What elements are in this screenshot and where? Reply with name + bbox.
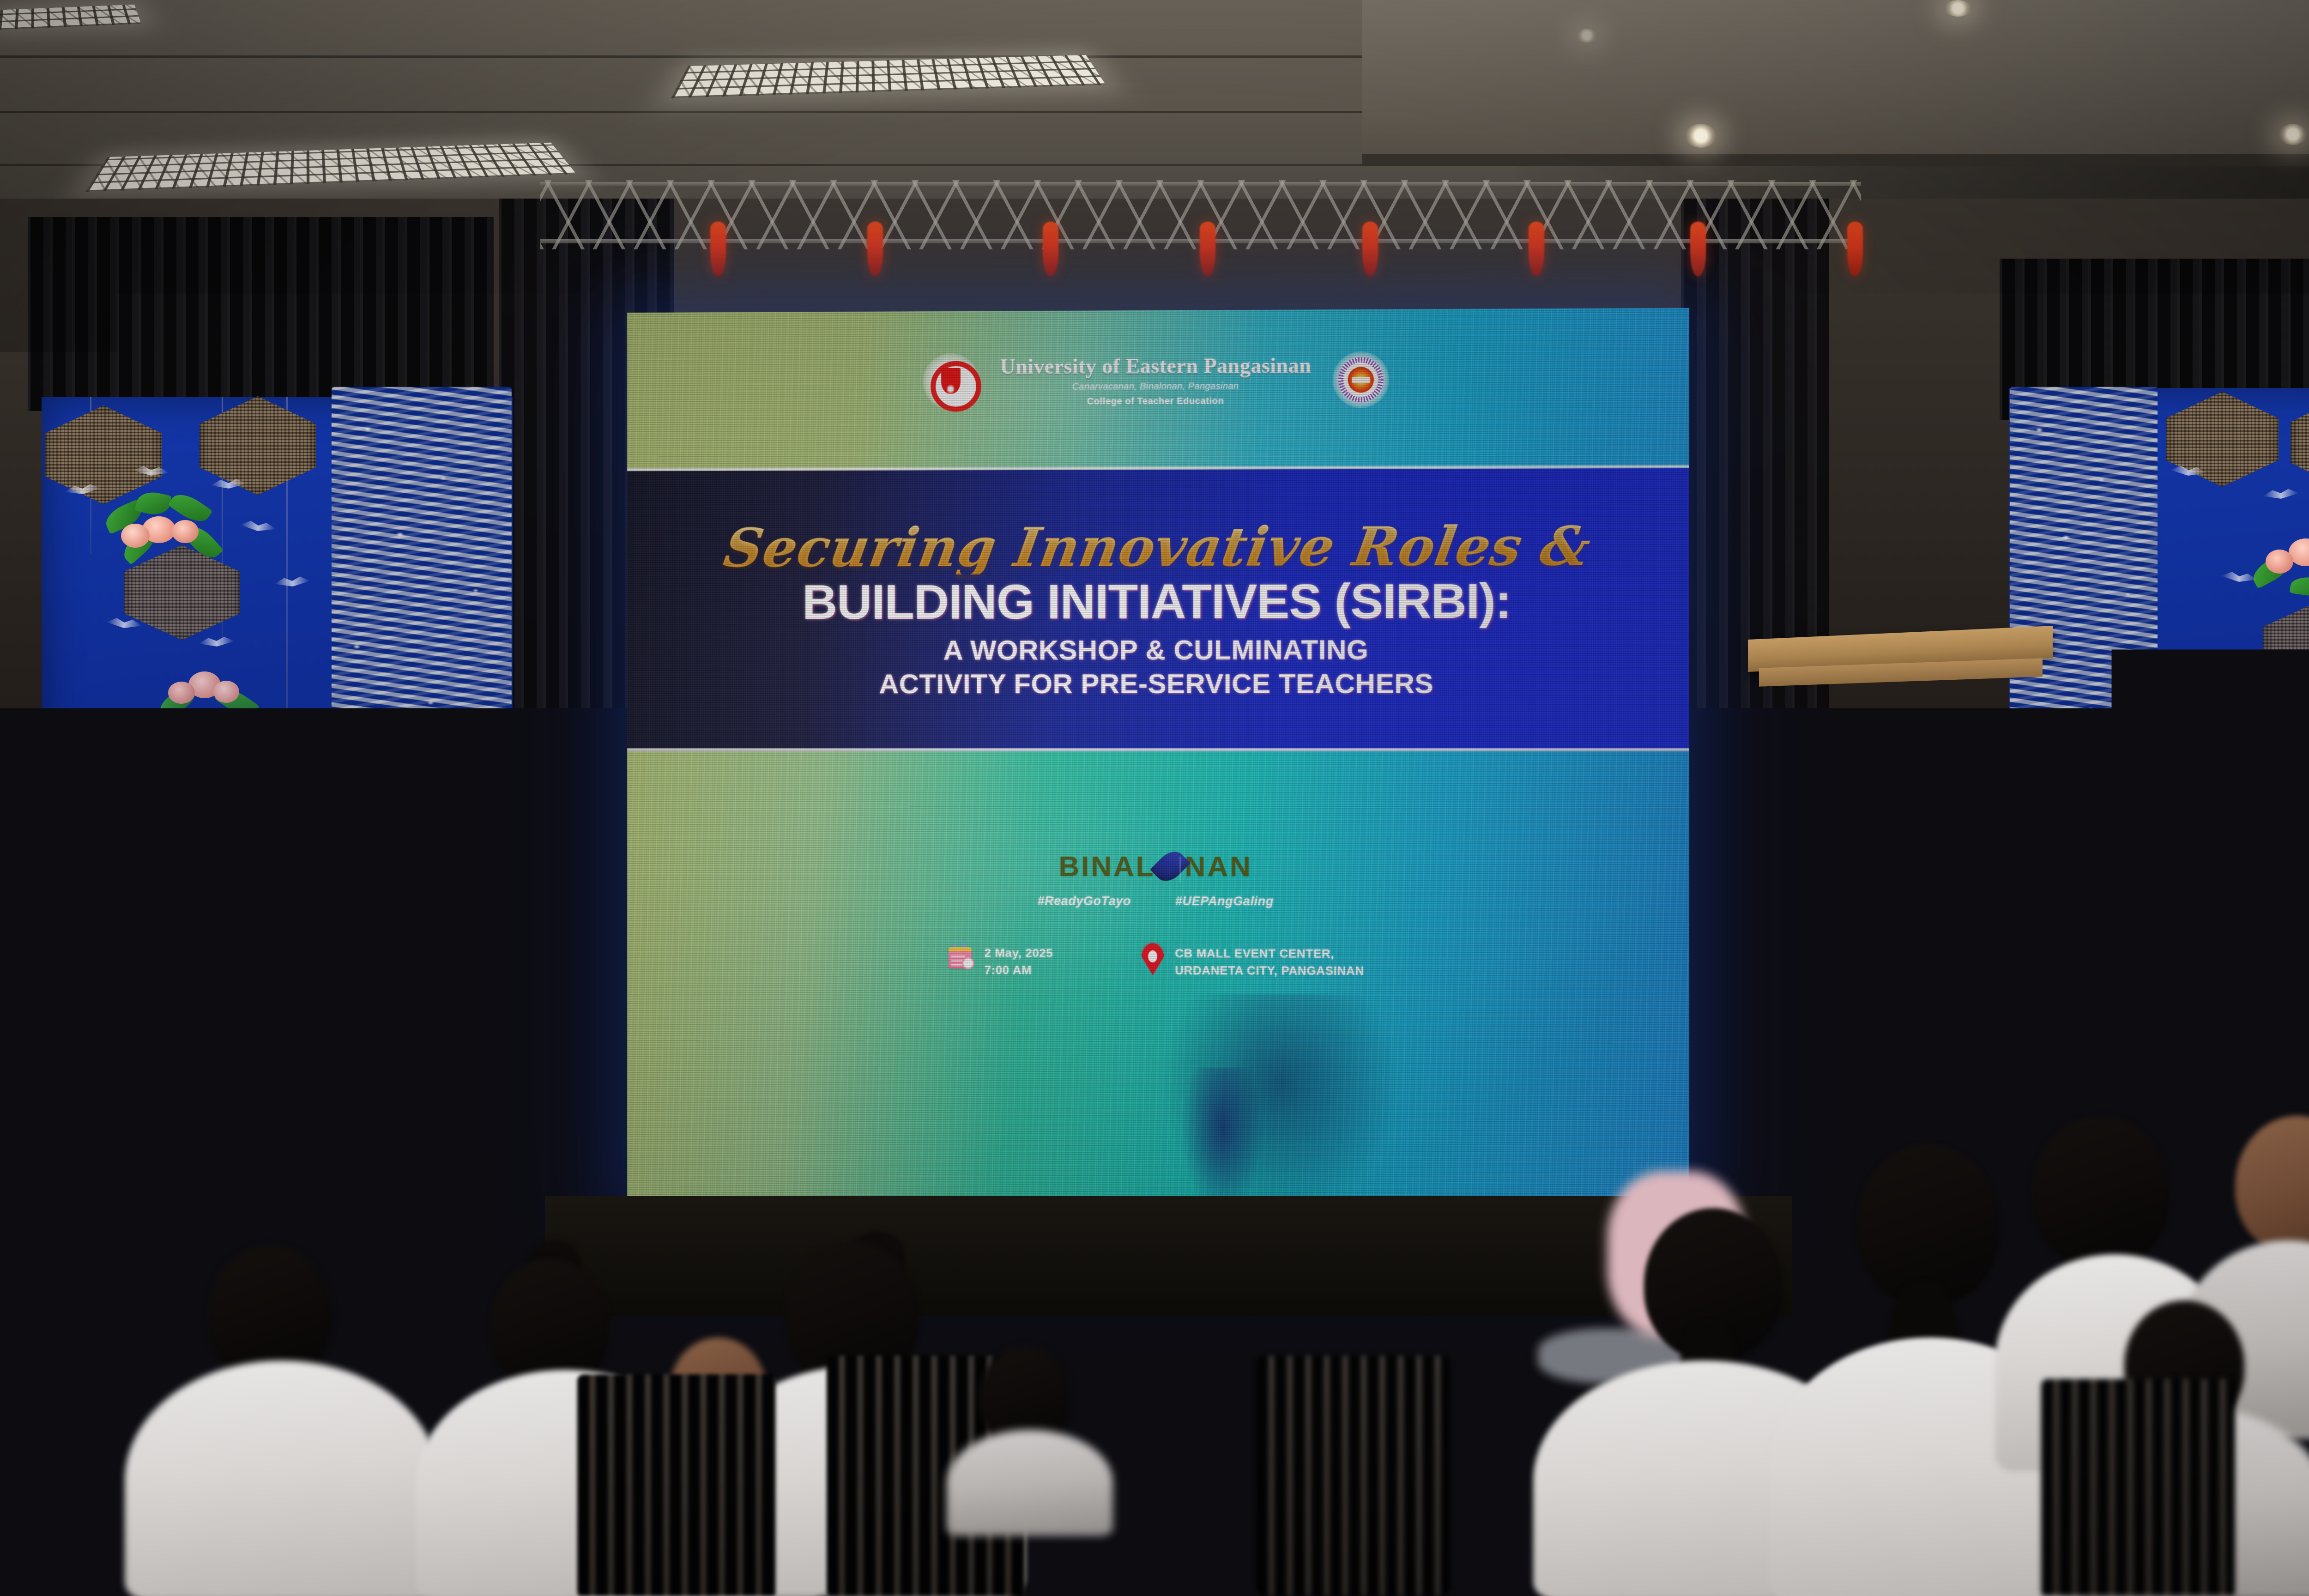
screen-title-block: Securing Innovative Roles & BUILDING INI… [627, 468, 1689, 751]
town-name-right: NAN [1185, 850, 1252, 883]
red-hanging-lantern [1847, 222, 1863, 276]
white-flower-garland-left [332, 387, 512, 1089]
flower-arrangement [92, 490, 245, 582]
audience-member [139, 1245, 416, 1596]
cb-mall-peaks-icon [1848, 828, 1953, 856]
map-pin-icon [1141, 943, 1165, 976]
event-info-row: 2 May, 2025 7:00 AM CB MALL EVENT CENTER… [627, 942, 1689, 980]
recessed-pot-light [1686, 124, 1716, 148]
red-hanging-lantern [1690, 222, 1706, 276]
university-address: Canarvacanan, Binalonan, Pangasinan [1000, 381, 1312, 391]
red-hanging-lantern [1043, 222, 1058, 276]
yellow-box [0, 1314, 88, 1421]
red-hanging-lantern [867, 222, 883, 276]
screen-bottom-band [627, 751, 1689, 1213]
town-branding: BINAL NAN #ReadyGoTayo #UEPAngGaling [627, 849, 1689, 909]
hashtag-uep-ang-galing: #UEPAngGaling [1175, 894, 1274, 908]
title-subtitle-line-2: ACTIVITY FOR PRE-SERVICE TEACHERS [879, 667, 1433, 701]
title-bold-line: BUILDING INITIATIVES (SIRBI): [802, 576, 1511, 628]
cte-seal-icon [1333, 351, 1389, 408]
recessed-pot-light [1944, 0, 1972, 17]
screen-header: University of Eastern Pangasinan Canarva… [627, 337, 1689, 424]
speaker-podium[interactable]: CB MALL [1789, 633, 2011, 1094]
equipment-case [0, 802, 351, 913]
flower-arrangement [148, 660, 277, 744]
audience-chair [1256, 1356, 1450, 1596]
hashtag-ready-go-tayo: #ReadyGoTayo [1038, 894, 1131, 908]
uep-seal-icon [923, 353, 979, 410]
recessed-pot-light [2279, 124, 2307, 145]
event-venue-block: CB MALL EVENT CENTER, URDANETA CITY, PAN… [1141, 943, 1364, 979]
red-hanging-lantern [1200, 222, 1215, 276]
university-name: University of Eastern Pangasinan [1000, 355, 1312, 377]
venue-line-2: URDANETA CITY, PANGASINAN [1175, 962, 1364, 979]
audience-member [951, 1347, 1104, 1513]
audience-chair [577, 1374, 776, 1596]
event-hall-photo: University of Eastern Pangasinan Canarva… [0, 0, 2309, 1596]
led-presentation-screen[interactable]: University of Eastern Pangasinan Canarva… [627, 308, 1689, 1213]
cb-mall-logo: CB MALL [1801, 748, 2000, 933]
red-hanging-lantern [1362, 222, 1378, 276]
cb-mall-sun-icon [1851, 795, 1950, 845]
ceiling-bulkhead [1362, 0, 2309, 166]
venue-line-1: CB MALL EVENT CENTER, [1175, 945, 1364, 962]
white-flower-garland-right [2010, 387, 2158, 1103]
stage-curtain-left [28, 217, 494, 411]
red-hanging-lantern [1529, 222, 1544, 276]
event-date: 2 May, 2025 [985, 944, 1053, 961]
town-name-left: BINAL [1058, 850, 1155, 883]
flower-arrangement [2244, 531, 2309, 619]
flower-arrangement [2217, 725, 2309, 813]
binalonan-leaf-icon [1150, 846, 1191, 887]
recessed-pot-light [1577, 29, 1596, 42]
event-time: 7:00 AM [985, 961, 1053, 979]
title-script-line: Securing Innovative Roles & [720, 520, 1595, 575]
red-hanging-lantern [710, 222, 726, 276]
calendar-icon [948, 943, 974, 969]
event-date-block: 2 May, 2025 7:00 AM [948, 943, 1053, 979]
college-name: College of Teacher Education [1000, 396, 1312, 406]
cb-mall-logo-text: CB MALL [1832, 853, 1969, 886]
title-subtitle-line-1: A WORKSHOP & CULMINATING [943, 634, 1369, 667]
audience-chair [2041, 1379, 2235, 1596]
